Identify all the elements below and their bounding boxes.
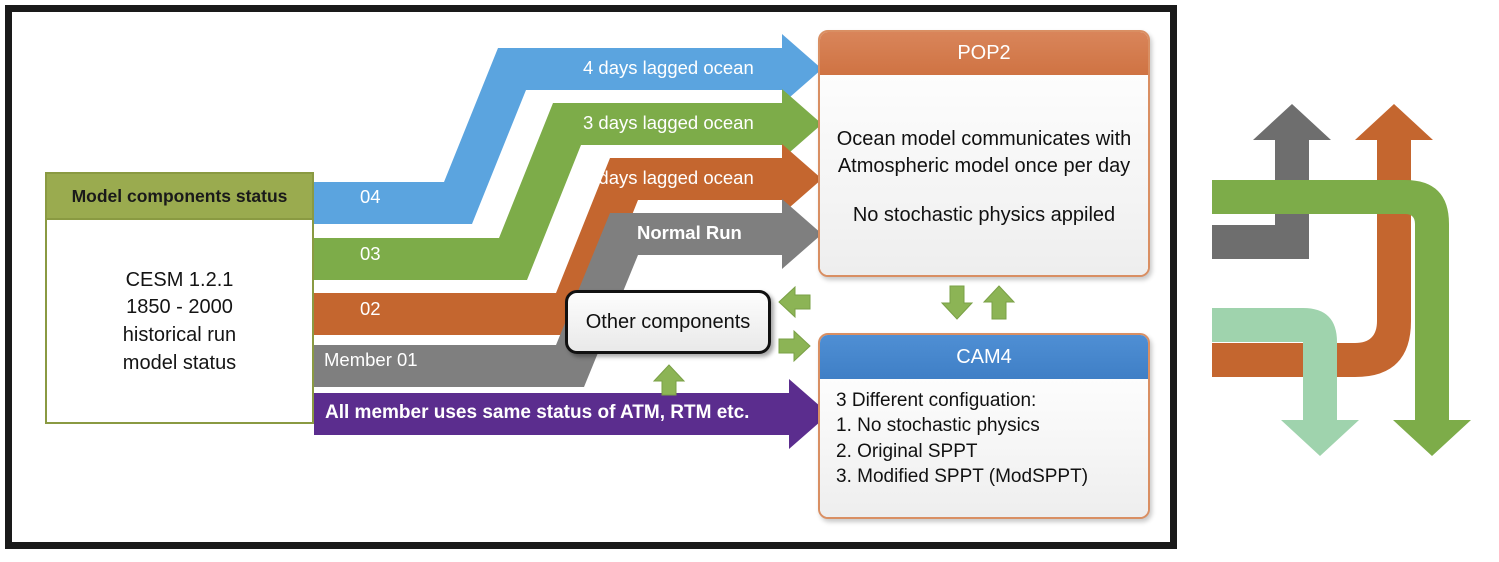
diagram-canvas: Model components status CESM 1.2.1 1850 … xyxy=(0,0,1499,562)
cam4-line-1: 3 Different configuation: xyxy=(836,388,1148,413)
member-label-04: 04 xyxy=(360,186,381,208)
cam4-line-3: 2. Original SPPT xyxy=(836,439,1148,464)
other-components-in-arrow xyxy=(779,287,810,317)
cam4-title: CAM4 xyxy=(820,335,1148,379)
cam4-line-4: 3. Modified SPPT (ModSPPT) xyxy=(836,464,1148,489)
pop2-line-2: Atmospheric model once per day xyxy=(838,153,1130,180)
pop2-to-cam4-arrow xyxy=(942,286,972,319)
pop2-box: POP2 Ocean model communicates with Atmos… xyxy=(818,30,1150,277)
status-line-1: CESM 1.2.1 xyxy=(126,267,234,295)
cam4-to-pop2-arrow xyxy=(984,286,1014,319)
member-label-03: 03 xyxy=(360,243,381,265)
cam4-box: CAM4 3 Different configuation: 1. No sto… xyxy=(818,333,1150,519)
status-line-2: 1850 - 2000 xyxy=(126,294,233,322)
other-components-box: Other components xyxy=(565,290,771,354)
other-components-out-arrow xyxy=(779,331,810,361)
status-line-4: model status xyxy=(123,350,236,378)
cam4-line-2: 1. No stochastic physics xyxy=(836,413,1148,438)
shared-status-arrow xyxy=(314,379,829,449)
pop2-line-1: Ocean model communicates with xyxy=(837,126,1132,153)
model-components-status-box: Model components status CESM 1.2.1 1850 … xyxy=(45,172,314,424)
other-components-label: Other components xyxy=(586,311,751,334)
status-box-header: Model components status xyxy=(47,174,312,220)
member-label-02: 02 xyxy=(360,298,381,320)
pop2-body: Ocean model communicates with Atmospheri… xyxy=(820,75,1148,275)
status-box-body: CESM 1.2.1 1850 - 2000 historical run mo… xyxy=(47,220,312,424)
pop2-note: No stochastic physics appiled xyxy=(853,202,1115,229)
cam4-body: 3 Different configuation: 1. No stochast… xyxy=(820,379,1148,517)
status-line-3: historical run xyxy=(123,322,236,350)
member-label-01: Member 01 xyxy=(324,349,418,371)
shared-status-up-arrow xyxy=(654,365,684,395)
pop2-title: POP2 xyxy=(820,32,1148,75)
outflow-lightgreen-down xyxy=(1212,308,1359,456)
